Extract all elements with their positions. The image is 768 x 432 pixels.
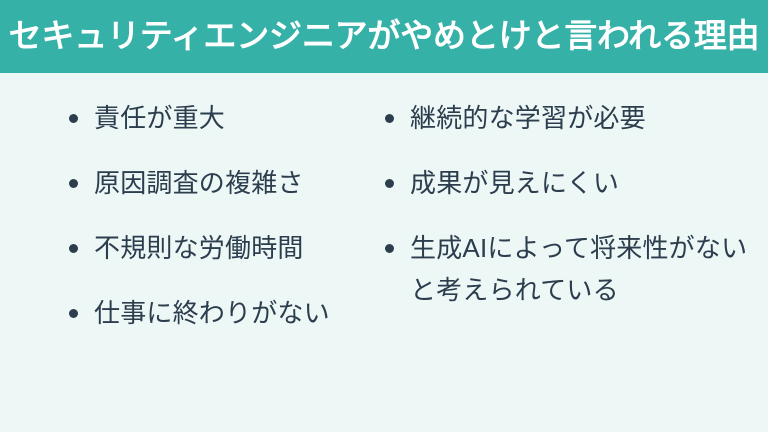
bullet-dot-icon <box>385 179 394 188</box>
list-item: 生成AIによって将来性がないと考えられている <box>382 227 750 311</box>
bullet-dot-icon <box>69 179 78 188</box>
left-column: 責任が重大 原因調査の複雑さ 不規則な労働時間 仕事に終わりがない <box>18 97 354 334</box>
list-item-label: 生成AIによって将来性がないと考えられている <box>410 227 750 311</box>
list-item-label: 不規則な労働時間 <box>94 227 354 269</box>
list-item-label: 責任が重大 <box>94 97 354 139</box>
list-item-label: 成果が見えにくい <box>410 162 750 204</box>
bullet-dot-icon <box>69 114 78 123</box>
list-item-label: 原因調査の複雑さ <box>94 162 354 204</box>
page-title: セキュリティエンジニアがやめとけと言われる理由 <box>9 19 760 54</box>
bullet-dot-icon <box>69 244 78 253</box>
list-item: 不規則な労働時間 <box>66 227 354 269</box>
bullet-dot-icon <box>385 244 394 253</box>
right-column: 継続的な学習が必要 成果が見えにくい 生成AIによって将来性がないと考えられてい… <box>354 97 750 311</box>
right-bullet-list: 継続的な学習が必要 成果が見えにくい 生成AIによって将来性がないと考えられてい… <box>382 97 750 311</box>
bullet-dot-icon <box>69 309 78 318</box>
slide: セキュリティエンジニアがやめとけと言われる理由 責任が重大 原因調査の複雑さ 不… <box>0 0 768 432</box>
left-bullet-list: 責任が重大 原因調査の複雑さ 不規則な労働時間 仕事に終わりがない <box>66 97 354 334</box>
list-item: 原因調査の複雑さ <box>66 162 354 204</box>
bullet-dot-icon <box>385 114 394 123</box>
list-item: 成果が見えにくい <box>382 162 750 204</box>
list-item-label: 仕事に終わりがない <box>94 292 354 334</box>
list-item-label: 継続的な学習が必要 <box>410 97 750 139</box>
bullet-content-area: 責任が重大 原因調査の複雑さ 不規則な労働時間 仕事に終わりがない <box>0 73 768 432</box>
list-item: 責任が重大 <box>66 97 354 139</box>
list-item: 仕事に終わりがない <box>66 292 354 334</box>
title-bar: セキュリティエンジニアがやめとけと言われる理由 <box>0 0 768 73</box>
list-item: 継続的な学習が必要 <box>382 97 750 139</box>
